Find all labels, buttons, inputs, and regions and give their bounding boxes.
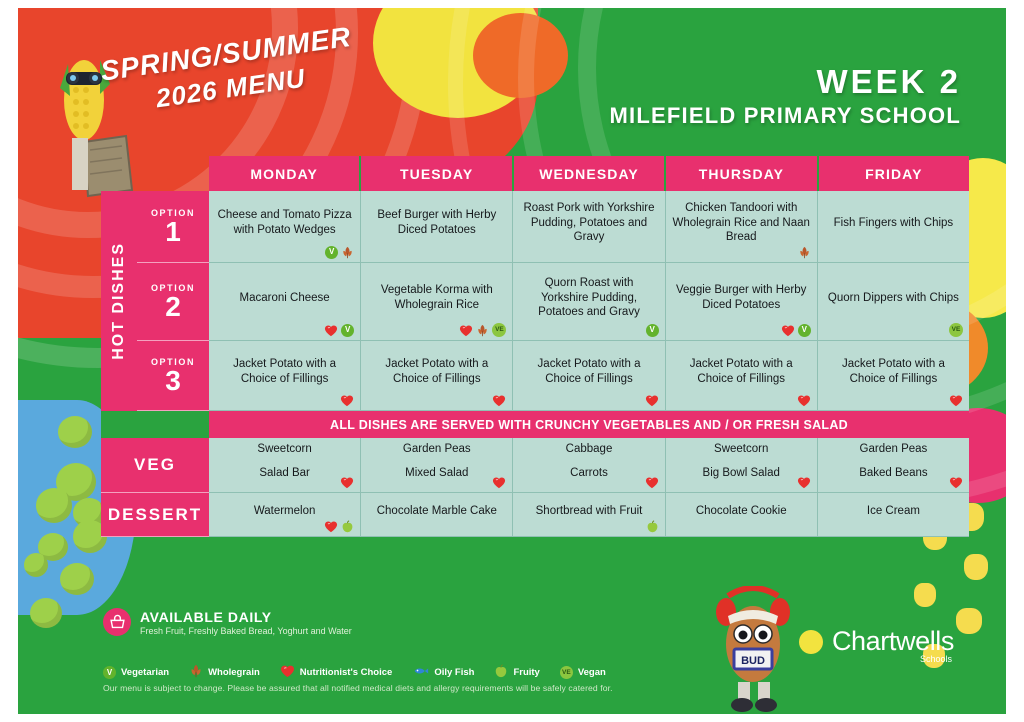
bud-mascot: BUD bbox=[708, 586, 798, 714]
wholegrain-icon bbox=[798, 246, 811, 259]
heart-icon bbox=[340, 394, 354, 407]
decor-corn-kernel bbox=[964, 554, 988, 580]
table-header-row: MONDAY TUESDAY WEDNESDAY THURSDAY FRIDAY bbox=[101, 156, 969, 191]
logo-dot-icon bbox=[799, 630, 823, 654]
vegetarian-icon: V bbox=[325, 246, 338, 259]
menu-table: MONDAY TUESDAY WEDNESDAY THURSDAY FRIDAY… bbox=[101, 156, 969, 537]
decor-pea bbox=[60, 563, 94, 595]
cell-dessert-tuesday[interactable]: Chocolate Marble Cake bbox=[361, 493, 513, 537]
wholegrain-icon bbox=[189, 664, 203, 681]
vegetarian-icon: V bbox=[103, 666, 116, 679]
option-1-label: OPTION 1 bbox=[137, 191, 209, 263]
cell-option1-monday[interactable]: Cheese and Tomato Pizza with Potato Wedg… bbox=[209, 191, 361, 263]
table-row-option3: OPTION 3 Jacket Potato with a Choice of … bbox=[137, 341, 969, 411]
heart-icon bbox=[797, 394, 811, 407]
heart-icon bbox=[340, 476, 354, 489]
dessert-label: DESSERT bbox=[101, 493, 209, 537]
cell-icons bbox=[797, 394, 811, 407]
cell-option2-tuesday[interactable]: Vegetable Korma with Wholegrain Rice VE bbox=[361, 263, 513, 341]
hot-dishes-block: HOT DISHES OPTION 1 Cheese and Tomato Pi… bbox=[101, 191, 969, 411]
cell-veg-friday[interactable]: Garden PeasBaked Beans bbox=[818, 438, 969, 493]
vegetarian-icon: V bbox=[798, 324, 811, 337]
decor-corn-kernel bbox=[914, 583, 936, 607]
school-name: MILEFIELD PRIMARY SCHOOL bbox=[610, 103, 961, 129]
available-daily-title: AVAILABLE DAILY bbox=[140, 609, 352, 625]
week-label: WEEK 2 bbox=[610, 63, 961, 101]
heart-icon bbox=[280, 664, 295, 681]
option-3-label: OPTION 3 bbox=[137, 341, 209, 411]
cell-icons bbox=[949, 476, 963, 489]
vegetarian-icon: V bbox=[646, 324, 659, 337]
available-daily-subtitle: Fresh Fruit, Freshly Baked Bread, Yoghur… bbox=[140, 626, 352, 636]
day-header-tuesday: TUESDAY bbox=[361, 156, 513, 191]
cell-icons bbox=[492, 394, 506, 407]
chartwells-logo: Chartwells Schools bbox=[799, 626, 954, 664]
cell-dessert-thursday[interactable]: Chocolate Cookie bbox=[666, 493, 818, 537]
cell-icons bbox=[949, 394, 963, 407]
svg-text:BUD: BUD bbox=[741, 655, 765, 667]
decor-pea bbox=[24, 553, 48, 577]
all-dishes-banner-text: ALL DISHES ARE SERVED WITH CRUNCHY VEGET… bbox=[209, 411, 969, 438]
legend: V Vegetarian Wholegrain Nutrit bbox=[103, 664, 606, 681]
cell-icons: V bbox=[646, 324, 659, 337]
cell-option1-wednesday[interactable]: Roast Pork with Yorkshire Pudding, Potat… bbox=[513, 191, 665, 263]
day-header-wednesday: WEDNESDAY bbox=[514, 156, 666, 191]
vegan-icon: VE bbox=[560, 666, 573, 679]
cell-dessert-monday[interactable]: Watermelon bbox=[209, 493, 361, 537]
heart-icon bbox=[645, 394, 659, 407]
basket-icon bbox=[103, 608, 131, 636]
veg-label: VEG bbox=[101, 438, 209, 493]
cell-icons: VE bbox=[459, 323, 506, 337]
apple-icon bbox=[341, 520, 354, 533]
cell-veg-wednesday[interactable]: CabbageCarrots bbox=[513, 438, 665, 493]
cell-icons: VE bbox=[949, 323, 963, 337]
apple-icon bbox=[646, 520, 659, 533]
vegetarian-icon: V bbox=[341, 324, 354, 337]
vegan-icon: VE bbox=[949, 323, 963, 337]
legend-item-oilyfish: Oily Fish bbox=[412, 665, 474, 680]
cell-option2-friday[interactable]: Quorn Dippers with Chips VE bbox=[818, 263, 969, 341]
decor-pea bbox=[30, 598, 62, 628]
heart-icon bbox=[949, 476, 963, 489]
cell-veg-tuesday[interactable]: Garden PeasMixed Salad bbox=[361, 438, 513, 493]
option-2-label: OPTION 2 bbox=[137, 263, 209, 341]
brand-name: Chartwells bbox=[832, 626, 954, 657]
cell-option1-tuesday[interactable]: Beef Burger with Herby Diced Potatoes bbox=[361, 191, 513, 263]
cell-veg-monday[interactable]: SweetcornSalad Bar bbox=[209, 438, 361, 493]
cell-icons bbox=[645, 476, 659, 489]
legend-item-vegetarian: V Vegetarian bbox=[103, 666, 169, 679]
cell-option3-tuesday[interactable]: Jacket Potato with a Choice of Fillings bbox=[361, 341, 513, 411]
day-header-thursday: THURSDAY bbox=[666, 156, 818, 191]
wholegrain-icon bbox=[476, 324, 489, 337]
cell-icons: V bbox=[324, 324, 354, 337]
table-row-option1: OPTION 1 Cheese and Tomato Pizza with Po… bbox=[137, 191, 969, 263]
decor-pea bbox=[36, 488, 72, 523]
table-row-option2: OPTION 2 Macaroni Cheese V Vegetable Kor… bbox=[137, 263, 969, 341]
cell-icons bbox=[492, 476, 506, 489]
heart-icon bbox=[492, 394, 506, 407]
cell-dessert-wednesday[interactable]: Shortbread with Fruit bbox=[513, 493, 665, 537]
cell-icons: V bbox=[781, 324, 811, 337]
cell-dessert-friday[interactable]: Ice Cream bbox=[818, 493, 969, 537]
cell-icons bbox=[340, 394, 354, 407]
cell-icons bbox=[324, 520, 354, 533]
cell-veg-thursday[interactable]: SweetcornBig Bowl Salad bbox=[666, 438, 818, 493]
all-dishes-banner: ALL DISHES ARE SERVED WITH CRUNCHY VEGET… bbox=[101, 411, 969, 438]
wholegrain-icon bbox=[341, 246, 354, 259]
table-row-veg: VEG SweetcornSalad Bar Garden PeasMixed … bbox=[101, 438, 969, 493]
cell-icons bbox=[645, 394, 659, 407]
cell-option2-thursday[interactable]: Veggie Burger with Herby Diced Potatoes … bbox=[666, 263, 818, 341]
day-header-monday: MONDAY bbox=[209, 156, 361, 191]
decor-pea bbox=[58, 416, 92, 448]
page-title: WEEK 2 MILEFIELD PRIMARY SCHOOL bbox=[610, 63, 961, 129]
available-daily: AVAILABLE DAILY Fresh Fruit, Freshly Bak… bbox=[103, 608, 352, 636]
legend-item-wholegrain: Wholegrain bbox=[189, 664, 260, 681]
cell-option3-wednesday[interactable]: Jacket Potato with a Choice of Fillings bbox=[513, 341, 665, 411]
heart-icon bbox=[324, 520, 338, 533]
heart-icon bbox=[949, 394, 963, 407]
cell-option3-friday[interactable]: Jacket Potato with a Choice of Fillings bbox=[818, 341, 969, 411]
cell-icons bbox=[340, 476, 354, 489]
decor-corn-kernel bbox=[956, 608, 982, 634]
legend-item-nutritionist: Nutritionist's Choice bbox=[280, 664, 393, 681]
cell-option2-monday[interactable]: Macaroni Cheese V bbox=[209, 263, 361, 341]
menu-poster: SPRING/SUMMER 2026 MENU WEEK 2 MILEFIELD… bbox=[18, 8, 1006, 714]
heart-icon bbox=[781, 324, 795, 337]
cell-icons bbox=[798, 246, 811, 259]
heart-icon bbox=[459, 324, 473, 337]
cell-icons: V bbox=[325, 246, 354, 259]
legend-item-vegan: VE Vegan bbox=[560, 666, 606, 679]
cell-option2-wednesday[interactable]: Quorn Roast with Yorkshire Pudding, Pota… bbox=[513, 263, 665, 341]
table-row-dessert: DESSERT Watermelon Chocolate Marble Cake… bbox=[101, 493, 969, 537]
heart-icon bbox=[645, 476, 659, 489]
day-header-friday: FRIDAY bbox=[819, 156, 969, 191]
cell-option3-monday[interactable]: Jacket Potato with a Choice of Fillings bbox=[209, 341, 361, 411]
heart-icon bbox=[324, 324, 338, 337]
hot-dishes-label: HOT DISHES bbox=[101, 191, 137, 411]
heart-icon bbox=[492, 476, 506, 489]
vegan-icon: VE bbox=[492, 323, 506, 337]
fish-icon bbox=[412, 665, 429, 680]
cell-option1-thursday[interactable]: Chicken Tandoori with Wholegrain Rice an… bbox=[666, 191, 818, 263]
cell-icons bbox=[646, 520, 659, 533]
cell-option1-friday[interactable]: Fish Fingers with Chips bbox=[818, 191, 969, 263]
apple-icon bbox=[494, 664, 508, 681]
legend-item-fruity: Fruity bbox=[494, 664, 539, 681]
disclaimer: Our menu is subject to change. Please be… bbox=[103, 683, 613, 693]
cell-option3-thursday[interactable]: Jacket Potato with a Choice of Fillings bbox=[666, 341, 818, 411]
cell-icons bbox=[797, 476, 811, 489]
heart-icon bbox=[797, 476, 811, 489]
